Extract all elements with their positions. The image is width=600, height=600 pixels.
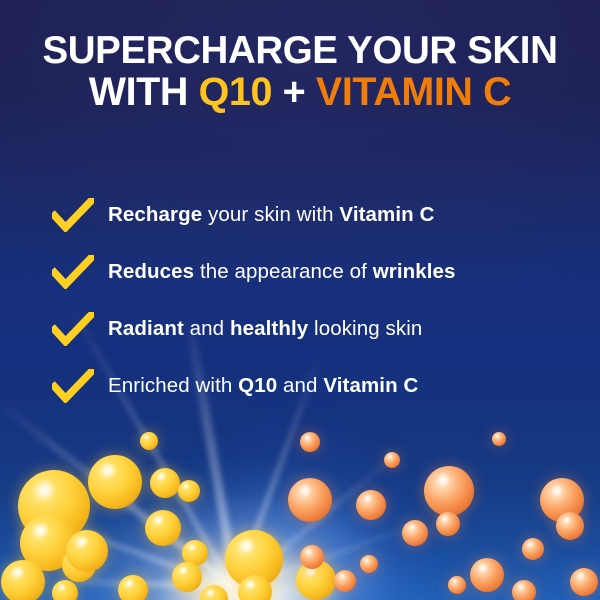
headline-line-2: WITH Q10 + VITAMIN C — [0, 73, 600, 112]
benefit-1-run-0: Reduces — [108, 260, 194, 283]
benefit-text: Reduces the appearance of wrinkles — [108, 260, 456, 284]
benefit-3-run-2: and — [277, 374, 323, 397]
advertisement-banner: SUPERCHARGE YOUR SKIN WITH Q10 + VITAMIN… — [0, 0, 600, 600]
benefit-item: Enriched with Q10 and Vitamin C — [52, 357, 572, 414]
benefit-3-run-1: Q10 — [238, 374, 277, 397]
benefit-2-run-1: and — [184, 317, 230, 340]
benefit-2-run-0: Radiant — [108, 317, 184, 340]
check-icon — [52, 198, 94, 232]
benefit-text: Enriched with Q10 and Vitamin C — [108, 374, 418, 398]
benefit-item: Radiant and healthly looking skin — [52, 300, 572, 357]
benefit-1-run-2: wrinkles — [373, 260, 456, 283]
benefit-0-run-0: Recharge — [108, 203, 202, 226]
benefit-2-run-2: healthly — [230, 317, 308, 340]
benefit-0-run-2: Vitamin C — [339, 203, 434, 226]
headline-line-2-run-1: Q10 — [199, 70, 272, 114]
benefit-0-run-1: your skin with — [202, 203, 339, 226]
benefit-text: Radiant and healthly looking skin — [108, 317, 422, 341]
headline: SUPERCHARGE YOUR SKIN WITH Q10 + VITAMIN… — [0, 32, 600, 111]
headline-line-2-run-2: + — [272, 70, 316, 114]
headline-line-2-run-3: VITAMIN C — [316, 70, 511, 114]
light-burst-core — [120, 525, 380, 600]
benefit-item: Recharge your skin with Vitamin C — [52, 186, 572, 243]
benefit-2-run-3: looking skin — [308, 317, 422, 340]
benefits-list: Recharge your skin with Vitamin CReduces… — [52, 186, 572, 414]
check-icon — [52, 369, 94, 403]
headline-line-1-run-0: SUPERCHARGE YOUR SKIN — [43, 29, 558, 72]
check-icon — [52, 255, 94, 289]
benefit-1-run-1: the appearance of — [194, 260, 373, 283]
benefit-item: Reduces the appearance of wrinkles — [52, 243, 572, 300]
benefit-3-run-0: Enriched with — [108, 374, 238, 397]
benefit-text: Recharge your skin with Vitamin C — [108, 203, 435, 227]
check-icon — [52, 312, 94, 346]
headline-line-2-run-0: WITH — [89, 70, 199, 114]
headline-line-1: SUPERCHARGE YOUR SKIN — [0, 32, 600, 70]
benefit-3-run-3: Vitamin C — [323, 374, 418, 397]
